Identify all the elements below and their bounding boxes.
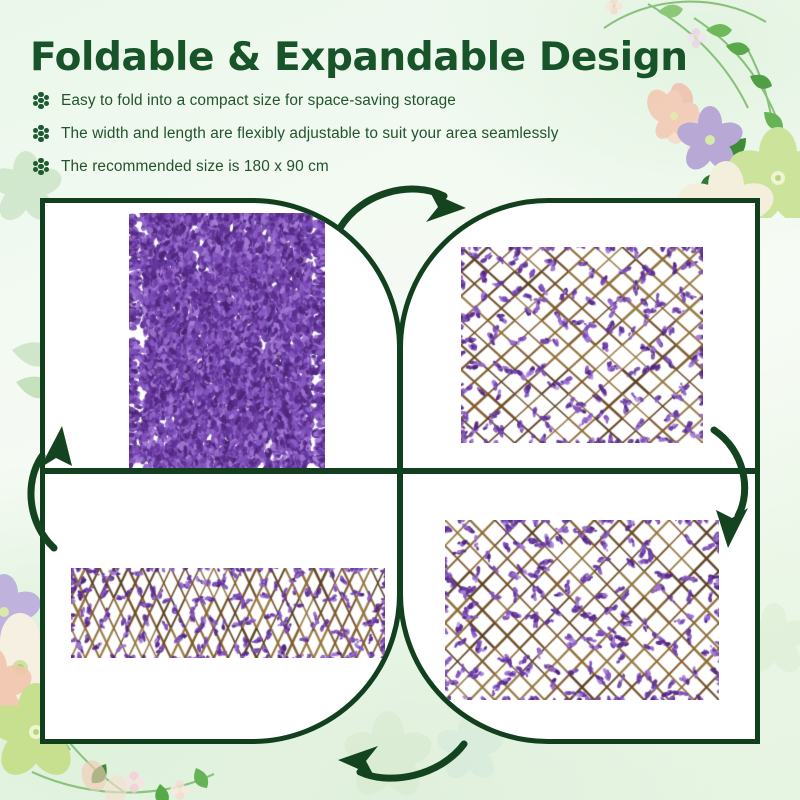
feature-bullet-list: Easy to fold into a compact size for spa… [32,88,732,187]
bullet-item-1: Easy to fold into a compact size for spa… [32,88,732,113]
flower-bullet-icon [32,158,50,176]
page-title: Foldable & Expandable Design [30,38,688,77]
flower-bullet-icon [32,125,50,143]
panel-expanded-square [398,198,760,473]
panel-expanded-wide [398,469,760,744]
bullet-text: Easy to fold into a compact size for spa… [61,92,456,110]
panel-folded-vertical [40,198,402,473]
infographic-canvas: Foldable & Expandable Design Easy to fol… [0,0,800,800]
bullet-item-2: The width and length are flexibly adjust… [32,121,732,146]
bullet-text: The width and length are flexibly adjust… [61,125,559,143]
product-image-folded-vertical [129,213,325,469]
panel-compressed-horizontal [40,469,402,744]
bullet-text: The recommended size is 180 x 90 cm [61,158,329,176]
quadrant-grid [40,198,760,744]
product-image-expanded-square [461,247,703,443]
product-image-compressed-horizontal [71,568,385,658]
product-image-expanded-wide [445,520,719,700]
flower-bullet-icon [32,92,50,110]
bullet-item-3: The recommended size is 180 x 90 cm [32,154,732,179]
